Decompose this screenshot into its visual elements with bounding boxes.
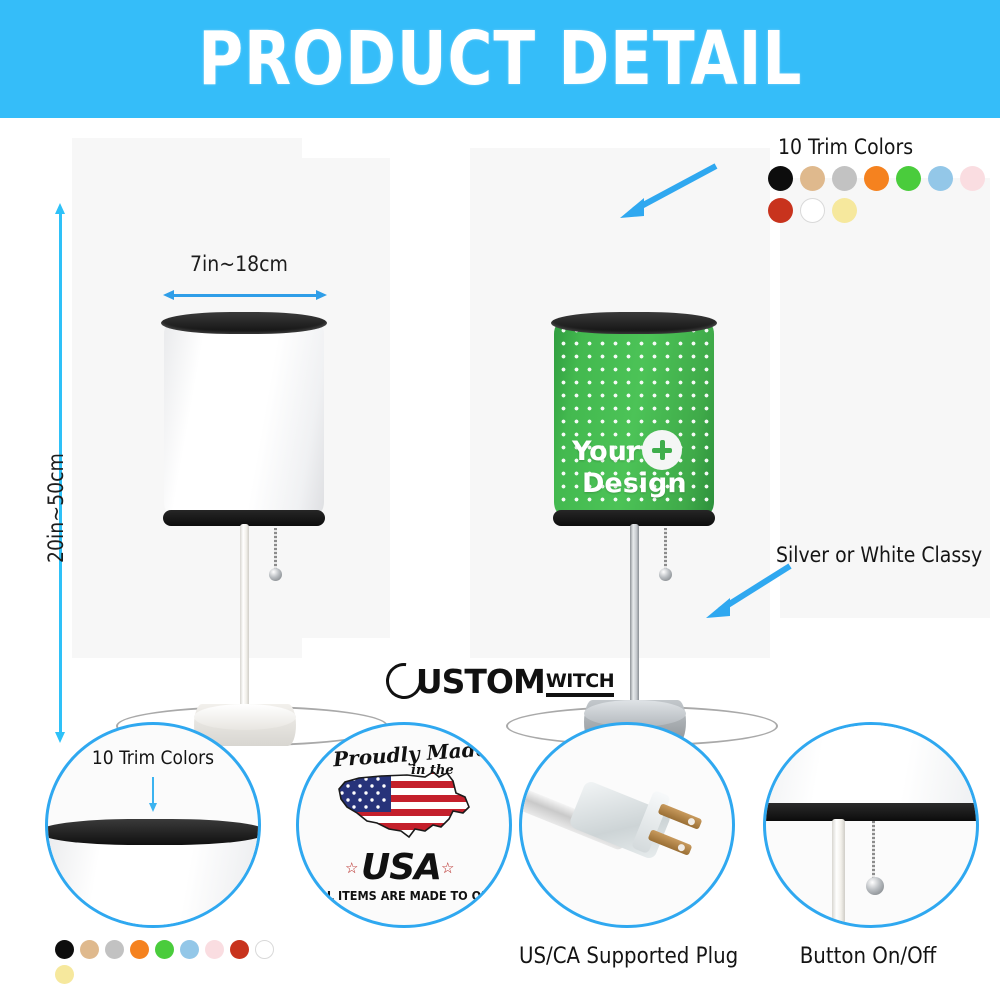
pull-chain[interactable] — [664, 528, 667, 572]
usa-map-flag-icon — [329, 767, 479, 851]
usa-text: USA — [361, 847, 441, 888]
trim-swatch-white[interactable] — [255, 940, 274, 959]
trim-pointer-arrow-top — [604, 158, 724, 228]
pull-chain-bead[interactable] — [659, 568, 672, 581]
lampshade-surface — [164, 320, 324, 516]
lampshade-crop — [45, 819, 261, 928]
lampshade-trim-top — [551, 312, 717, 334]
trim-swatch-gray[interactable] — [105, 940, 124, 959]
trim-color-swatches-top[interactable] — [768, 166, 1000, 223]
pull-chain[interactable] — [872, 821, 875, 883]
pull-chain[interactable] — [274, 528, 277, 572]
trim-swatch-orange[interactable] — [130, 940, 149, 959]
trim-colors-heading: 10 Trim Colors — [778, 135, 913, 159]
feature-plug-caption: US/CA Supported Plug — [519, 944, 729, 969]
width-dimension-label: 7in~18cm — [190, 252, 288, 276]
pull-chain-bead[interactable] — [866, 877, 884, 895]
trim-swatch-light-blue[interactable] — [928, 166, 953, 191]
trim-swatch-black[interactable] — [55, 940, 74, 959]
trim-swatch-green[interactable] — [896, 166, 921, 191]
lamp-pole — [832, 819, 845, 928]
trim-swatch-pink[interactable] — [205, 940, 224, 959]
trim-swatch-yellow[interactable] — [832, 198, 857, 223]
base-finish-pointer-arrow — [690, 558, 800, 628]
trim-swatch-tan[interactable] — [80, 940, 99, 959]
lampshade-bottom-crop — [763, 722, 979, 805]
page-header-banner: PRODUCT DETAIL — [0, 0, 1000, 118]
star-icon-right: ☆ — [441, 859, 454, 877]
trim-swatch-gray[interactable] — [832, 166, 857, 191]
lampshade-custom: Your Design — [554, 312, 714, 524]
trim-swatch-orange[interactable] — [864, 166, 889, 191]
star-icon-left: ☆ — [345, 859, 358, 877]
trim-color-swatches-bottom[interactable] — [55, 940, 285, 984]
design-text-line2: Design — [582, 468, 687, 499]
feature-made-in-usa: Proudly Made in the — [296, 722, 512, 928]
logo-text-witch: WITCH — [546, 670, 614, 697]
width-dimension-arrow — [163, 290, 327, 300]
feature-trim-colors-label: 10 Trim Colors — [48, 747, 258, 769]
plus-circle-icon — [642, 430, 682, 470]
lampshade-trim-bottom — [763, 803, 979, 821]
lampshade-white — [164, 312, 324, 524]
base-finish-label: Silver or White Classy — [776, 543, 982, 567]
height-dimension-label: 20in~50cm — [44, 453, 68, 563]
trim-swatch-tan[interactable] — [800, 166, 825, 191]
feature-switch — [763, 722, 979, 928]
page-title: PRODUCT DETAIL — [198, 16, 802, 102]
logo-text-custom: USTOM — [416, 662, 545, 701]
design-text-line1: Your — [572, 436, 640, 467]
trim-swatch-red[interactable] — [768, 198, 793, 223]
feature-trim-colors: 10 Trim Colors — [45, 722, 261, 928]
trim-swatch-green[interactable] — [155, 940, 174, 959]
trim-swatch-red[interactable] — [230, 940, 249, 959]
feature-plug — [519, 722, 735, 928]
brand-logo: USTOM WITCH — [0, 662, 1000, 704]
feature-switch-caption: Button On/Off — [763, 944, 973, 969]
trim-swatch-black[interactable] — [768, 166, 793, 191]
product-stage: 20in~50cm 7in~18cm Your Design — [0, 118, 1000, 658]
lampshade-trim-top — [161, 312, 327, 334]
pull-chain-bead[interactable] — [269, 568, 282, 581]
trim-swatch-yellow[interactable] — [55, 965, 74, 984]
trim-swatch-light-blue[interactable] — [180, 940, 199, 959]
usa-subtext: ALL ITEMS ARE MADE TO ORDER! — [311, 888, 512, 903]
trim-swatch-pink[interactable] — [960, 166, 985, 191]
trim-swatch-white[interactable] — [800, 198, 825, 223]
